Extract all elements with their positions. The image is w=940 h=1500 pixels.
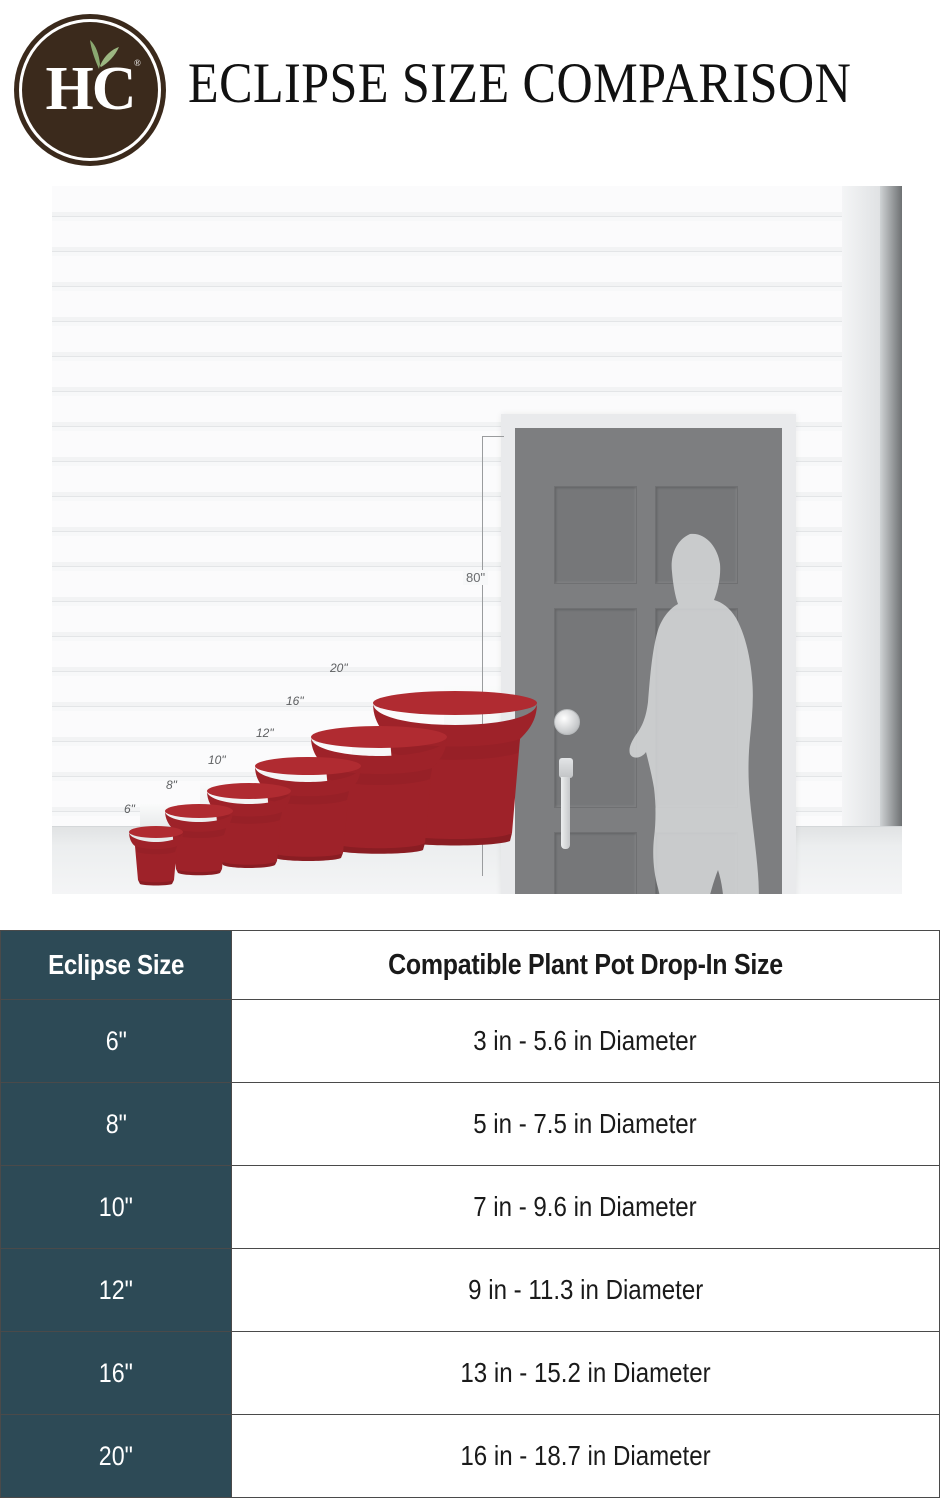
door-handle-base: [559, 758, 573, 778]
cell-drop-in-size-label: 7 in - 9.6 in Diameter: [474, 1191, 698, 1223]
cell-eclipse-size-label: 16": [99, 1358, 133, 1389]
siding-corner-shadow: [880, 186, 902, 826]
cell-eclipse-size: 10": [1, 1166, 232, 1249]
table-body: 6" 3 in - 5.6 in Diameter 8" 5 in - 7.5 …: [1, 1000, 940, 1498]
pot-6in: [126, 826, 186, 886]
cell-eclipse-size-label: 6": [105, 1026, 126, 1057]
measurement-tick: [482, 436, 504, 437]
column-header-drop-in-size-label: Compatible Plant Pot Drop-In Size: [388, 949, 783, 982]
cell-eclipse-size: 20": [1, 1415, 232, 1498]
pot-label-20in: 20": [330, 661, 348, 675]
cell-eclipse-size: 12": [1, 1249, 232, 1332]
siding-corner-light: [842, 186, 882, 826]
hc-brand-logo: HC ®: [14, 14, 166, 166]
column-header-eclipse-size-label: Eclipse Size: [48, 949, 184, 981]
table-row: 6" 3 in - 5.6 in Diameter: [1, 1000, 940, 1083]
page-title: ECLIPSE SIZE COMPARISON: [188, 48, 839, 124]
cell-eclipse-size-label: 20": [99, 1441, 133, 1472]
table-head: Eclipse Size Compatible Plant Pot Drop-I…: [1, 931, 940, 1000]
table-row: 16" 13 in - 15.2 in Diameter: [1, 1332, 940, 1415]
size-comparison-photo: 80": [52, 186, 902, 894]
registered-mark: ®: [134, 58, 141, 68]
cell-drop-in-size: 7 in - 9.6 in Diameter: [231, 1166, 939, 1249]
table-row: 12" 9 in - 11.3 in Diameter: [1, 1249, 940, 1332]
cell-drop-in-size: 13 in - 15.2 in Diameter: [231, 1332, 939, 1415]
table-header-row: Eclipse Size Compatible Plant Pot Drop-I…: [1, 931, 940, 1000]
cell-drop-in-size: 16 in - 18.7 in Diameter: [231, 1415, 939, 1498]
cell-drop-in-size-label: 13 in - 15.2 in Diameter: [460, 1357, 710, 1389]
cell-eclipse-size-label: 12": [99, 1275, 133, 1306]
pot-label-16in: 16": [286, 694, 304, 708]
cell-drop-in-size-label: 5 in - 7.5 in Diameter: [474, 1108, 698, 1140]
table-row: 10" 7 in - 9.6 in Diameter: [1, 1166, 940, 1249]
cell-drop-in-size-label: 9 in - 11.3 in Diameter: [468, 1274, 703, 1306]
door-height-label: 80": [463, 570, 488, 585]
cell-eclipse-size: 8": [1, 1083, 232, 1166]
cell-eclipse-size-label: 8": [105, 1109, 126, 1140]
deadbolt-knob-icon: [554, 709, 580, 735]
size-chart-table: Eclipse Size Compatible Plant Pot Drop-I…: [0, 930, 940, 1498]
table-row: 8" 5 in - 7.5 in Diameter: [1, 1083, 940, 1166]
column-header-drop-in-size: Compatible Plant Pot Drop-In Size: [231, 931, 939, 1000]
person-silhouette: [612, 526, 792, 894]
pot-label-12in: 12": [256, 726, 274, 740]
door-handle-lever: [561, 777, 570, 849]
table-row: 20" 16 in - 18.7 in Diameter: [1, 1415, 940, 1498]
cell-drop-in-size: 9 in - 11.3 in Diameter: [231, 1249, 939, 1332]
cell-drop-in-size: 5 in - 7.5 in Diameter: [231, 1083, 939, 1166]
cell-drop-in-size-label: 16 in - 18.7 in Diameter: [460, 1440, 710, 1472]
page-header: HC ® ECLIPSE SIZE COMPARISON: [0, 0, 940, 180]
logo-monogram: HC: [14, 58, 166, 120]
cell-drop-in-size-label: 3 in - 5.6 in Diameter: [474, 1025, 698, 1057]
column-header-eclipse-size: Eclipse Size: [1, 931, 232, 1000]
pot-label-6in: 6": [124, 802, 135, 816]
cell-eclipse-size: 16": [1, 1332, 232, 1415]
cell-eclipse-size-label: 10": [99, 1192, 133, 1223]
pot-label-10in: 10": [208, 753, 226, 767]
cell-drop-in-size: 3 in - 5.6 in Diameter: [231, 1000, 939, 1083]
pot-label-8in: 8": [166, 778, 177, 792]
cell-eclipse-size: 6": [1, 1000, 232, 1083]
